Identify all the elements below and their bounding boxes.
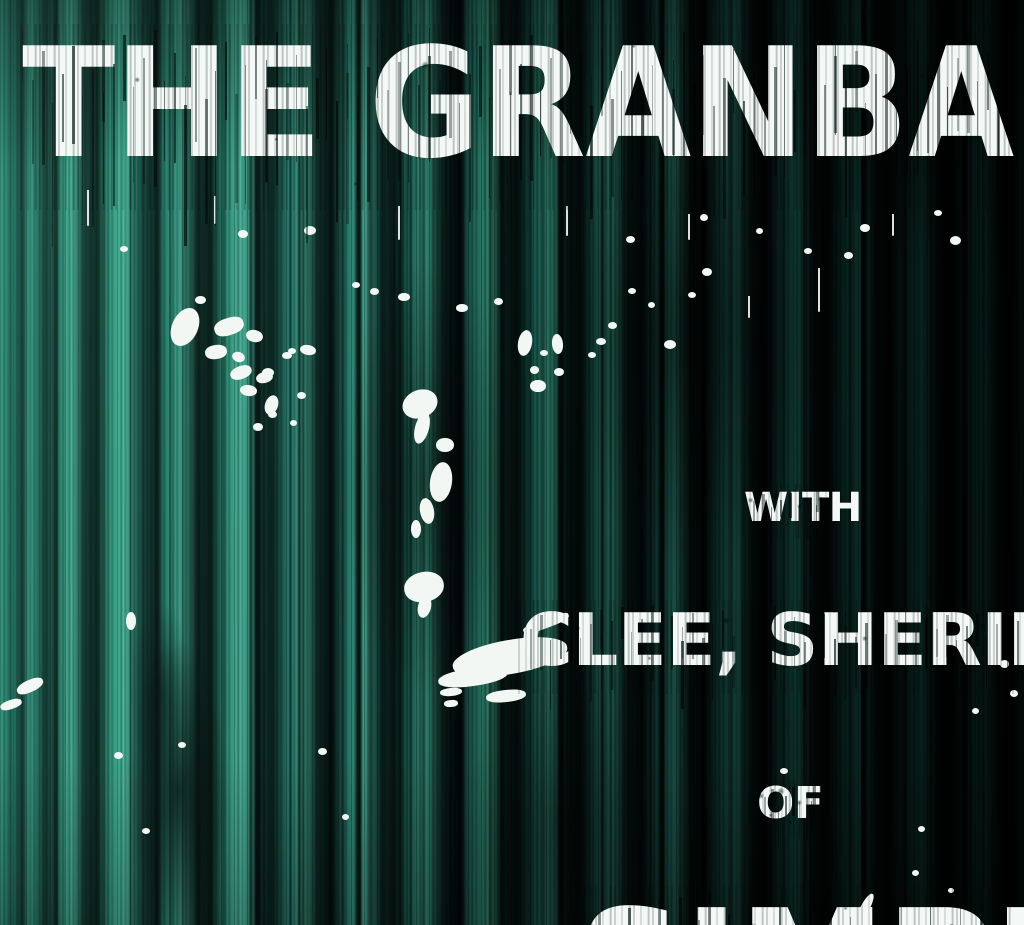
poster-title-text: The Granbar Sessions [22, 15, 1024, 192]
with-label-text: With [744, 485, 862, 531]
with-label: With [744, 488, 824, 534]
poster-canvas: The Granbar Sessions With Clee, Sheridan… [0, 0, 1024, 925]
performers-line: Clee, Sheridan, & Friends [520, 604, 1024, 690]
of-label-text: Of [757, 778, 823, 829]
performers-text: Clee, Sheridan, & Friends [520, 598, 1024, 682]
brand-name: Simplified [578, 890, 1008, 925]
of-label: Of [757, 782, 817, 834]
brand-name-text: Simplified [578, 878, 1024, 925]
poster-title: The Granbar Sessions [22, 28, 1007, 206]
